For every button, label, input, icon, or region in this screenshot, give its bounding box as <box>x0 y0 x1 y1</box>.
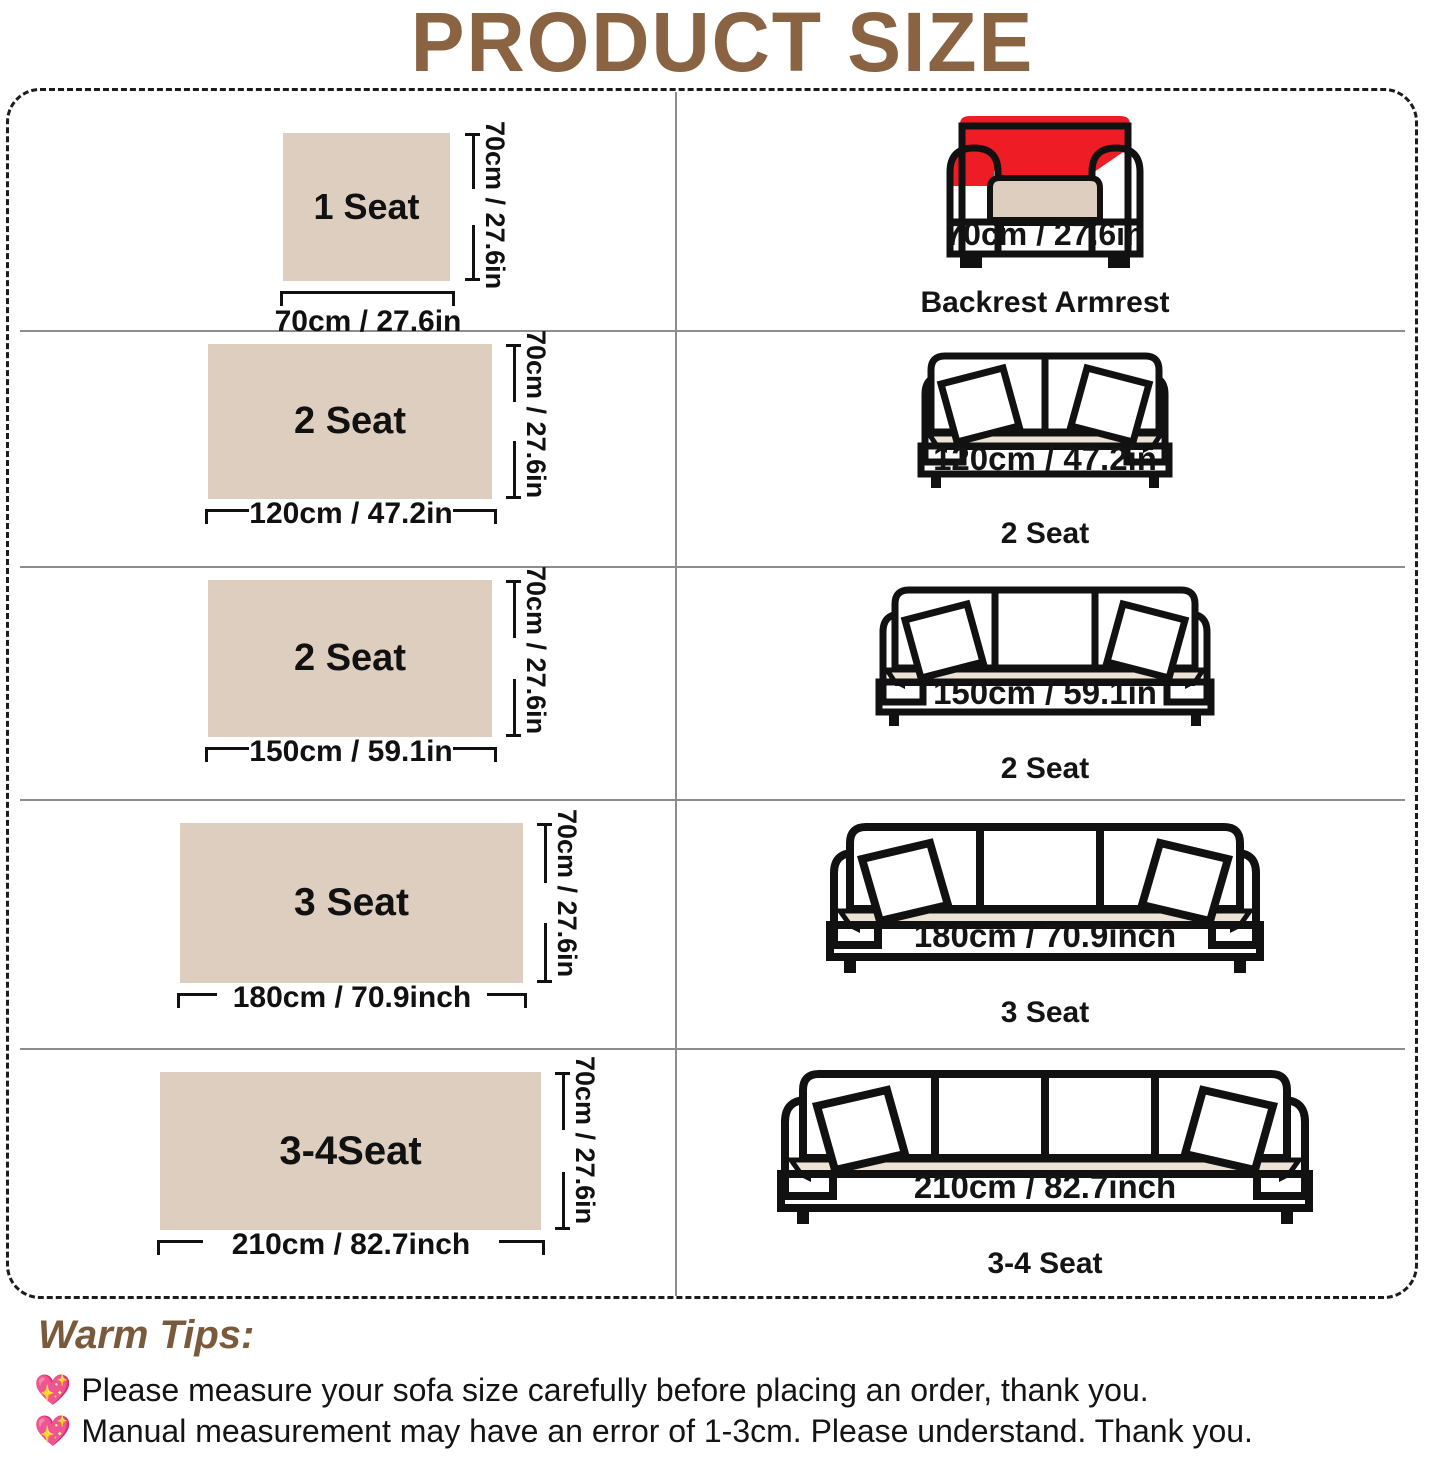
illustration-caption: Backrest Armrest <box>678 286 1412 320</box>
swatch-seat-label: 3-4Seat <box>279 1129 421 1174</box>
sparkling-heart-icon: 💖 <box>34 1376 71 1406</box>
width-dimension-label: 120cm / 47.2in <box>205 497 497 531</box>
swatch-seat-label: 3 Seat <box>294 881 409 925</box>
row-swatch-cell: 3-4Seat 70cm / 27.6in 210cm / 82.7inch <box>8 1050 676 1296</box>
size-swatch: 3-4Seat <box>160 1072 541 1230</box>
swatch-seat-label: 2 Seat <box>294 637 406 680</box>
height-dimension-label: 70cm / 27.6in <box>520 566 551 750</box>
width-dimension-label: 210cm / 82.7inch <box>157 1228 545 1262</box>
illustration-dimension-label: 210cm / 82.7inch <box>678 1168 1412 1206</box>
product-size-infographic: PRODUCT SIZE 1 Seat 70cm / 27.6in <box>0 0 1445 1462</box>
row-illustration-cell: 180cm / 70.9inch 3 Seat <box>678 801 1412 1048</box>
height-dimension-label: 70cm / 27.6in <box>520 330 551 512</box>
size-swatch: 1 Seat <box>283 133 450 281</box>
row-swatch-cell: 1 Seat 70cm / 27.6in 70cm / 27.6in <box>8 92 676 330</box>
size-swatch-group: 1 Seat 70cm / 27.6in 70cm / 27.6in <box>283 133 523 323</box>
illustration-caption: 2 Seat <box>678 752 1412 786</box>
illustration-caption: 2 Seat <box>678 517 1412 551</box>
size-swatch: 2 Seat <box>208 580 492 737</box>
size-swatch-group: 2 Seat 70cm / 27.6in 120cm / 47.2in <box>208 344 568 544</box>
table-row: 1 Seat 70cm / 27.6in 70cm / 27.6in <box>8 92 1412 330</box>
warm-tip-text: Manual measurement may have an error of … <box>81 1413 1253 1450</box>
row-illustration-cell: 150cm / 59.1in 2 Seat <box>678 568 1412 799</box>
table-row: 2 Seat 70cm / 27.6in 150cm / 59.1in <box>8 568 1412 799</box>
illustration-dimension-label: 150cm / 59.1in <box>678 674 1412 712</box>
row-swatch-cell: 2 Seat 70cm / 27.6in 120cm / 47.2in <box>8 332 676 566</box>
height-dimension-label: 70cm / 27.6in <box>551 809 582 995</box>
swatch-seat-label: 2 Seat <box>294 400 406 443</box>
size-swatch: 2 Seat <box>208 344 492 499</box>
warm-tips-title: Warm Tips: <box>38 1313 254 1358</box>
row-swatch-cell: 2 Seat 70cm / 27.6in 150cm / 59.1in <box>8 568 676 799</box>
size-swatch-group: 2 Seat 70cm / 27.6in 150cm / 59.1in <box>208 580 568 780</box>
swatch-seat-label: 1 Seat <box>313 186 419 228</box>
row-illustration-cell: 210cm / 82.7inch 3-4 Seat <box>678 1050 1412 1296</box>
width-dimension-label: 150cm / 59.1in <box>205 735 497 769</box>
warm-tip-item: 💖 Please measure your sofa size carefull… <box>34 1372 1149 1409</box>
illustration-dimension-label: 180cm / 70.9inch <box>678 917 1412 955</box>
row-swatch-cell: 3 Seat 70cm / 27.6in 180cm / 70.9inch <box>8 801 676 1048</box>
sofa-3seat-icon <box>678 813 1412 985</box>
row-illustration-cell: 120cm / 47.2in 2 Seat <box>678 332 1412 566</box>
sofa-4seat-icon <box>678 1060 1412 1236</box>
size-swatch-group: 3 Seat 70cm / 27.6in 180cm / 70.9inch <box>180 823 580 1028</box>
warm-tip-item: 💖 Manual measurement may have an error o… <box>34 1413 1253 1450</box>
illustration-dimension-label: 70cm / 27.6in <box>678 216 1412 253</box>
page-title: PRODUCT SIZE <box>29 0 1416 86</box>
size-swatch: 3 Seat <box>180 823 523 983</box>
height-dimension-label: 70cm / 27.6in <box>569 1056 600 1240</box>
sofa-2seat-icon <box>678 342 1412 502</box>
warm-tip-text: Please measure your sofa size carefully … <box>81 1372 1148 1409</box>
table-row: 2 Seat 70cm / 27.6in 120cm / 47.2in <box>8 332 1412 566</box>
table-row: 3-4Seat 70cm / 27.6in 210cm / 82.7inch <box>8 1050 1412 1296</box>
sofa-3cushion-icon <box>678 576 1412 738</box>
illustration-caption: 3-4 Seat <box>678 1247 1412 1281</box>
table-row: 3 Seat 70cm / 27.6in 180cm / 70.9inch <box>8 801 1412 1048</box>
width-dimension-label: 180cm / 70.9inch <box>177 981 527 1015</box>
height-dimension-label: 70cm / 27.6in <box>479 121 510 297</box>
illustration-caption: 3 Seat <box>678 996 1412 1030</box>
sparkling-heart-icon: 💖 <box>34 1417 71 1447</box>
row-illustration-cell: 70cm / 27.6in Backrest Armrest <box>678 92 1412 330</box>
armchair-red-highlight-icon <box>678 110 1412 280</box>
size-swatch-group: 3-4Seat 70cm / 27.6in 210cm / 82.7inch <box>160 1072 590 1282</box>
illustration-dimension-label: 120cm / 47.2in <box>678 440 1412 478</box>
